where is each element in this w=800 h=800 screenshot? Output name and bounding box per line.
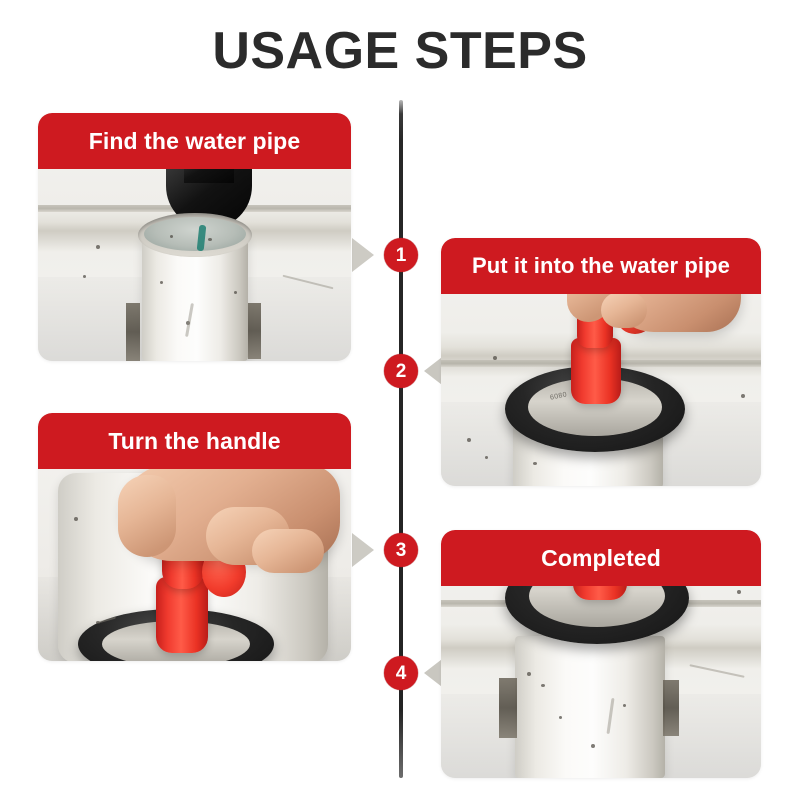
step-badge-1: 1 [384,238,418,272]
step-banner-2: Put it into the water pipe [441,238,761,294]
photo-speck [559,716,562,719]
photo-speck [527,672,531,676]
photo-speck [533,462,537,465]
step-badge-3: 3 [384,533,418,567]
photo-speck [741,394,745,398]
photo-speck [591,744,595,748]
photo-speck [83,275,86,278]
step-badge-4: 4 [384,656,418,690]
wall-gap-left [126,303,140,361]
pvc-pipe-body [515,636,665,778]
pvc-pipe-opening [144,217,246,251]
step-card-4: 6080 Completed [441,530,761,778]
wall-gap-left [499,678,517,738]
photo-speck [234,291,237,294]
step-card-2: 6080 Put it into the water pipe [441,238,761,486]
photo-speck [170,235,173,238]
wall-gap-right [663,680,679,736]
step-banner-1: Find the water pipe [38,113,351,169]
photo-speck [160,281,163,284]
photo-speck [208,238,212,241]
photo-speck [96,245,100,249]
step-badge-2: 2 [384,354,418,388]
step-card-3: Turn the handle [38,413,351,661]
wall-gap-right [248,303,261,359]
step-banner-4: Completed [441,530,761,586]
photo-speck [493,356,497,360]
finger-thumb [118,475,176,557]
photo-speck [485,456,488,459]
page-title: USAGE STEPS [0,22,800,82]
step-card-1: Find the water pipe [38,113,351,361]
usage-steps-infographic: USAGE STEPS 1 2 3 4 [0,0,800,800]
photo-speck [74,517,78,521]
photo-speck [541,684,545,687]
photo-speck [737,590,741,594]
connector-arrow-step-3 [352,533,374,567]
finger-middle [252,529,324,573]
photo-speck [623,704,626,707]
photo-speck [467,438,471,442]
finger-index [601,292,647,328]
step-banner-3: Turn the handle [38,413,351,469]
connector-arrow-step-1 [352,238,374,272]
